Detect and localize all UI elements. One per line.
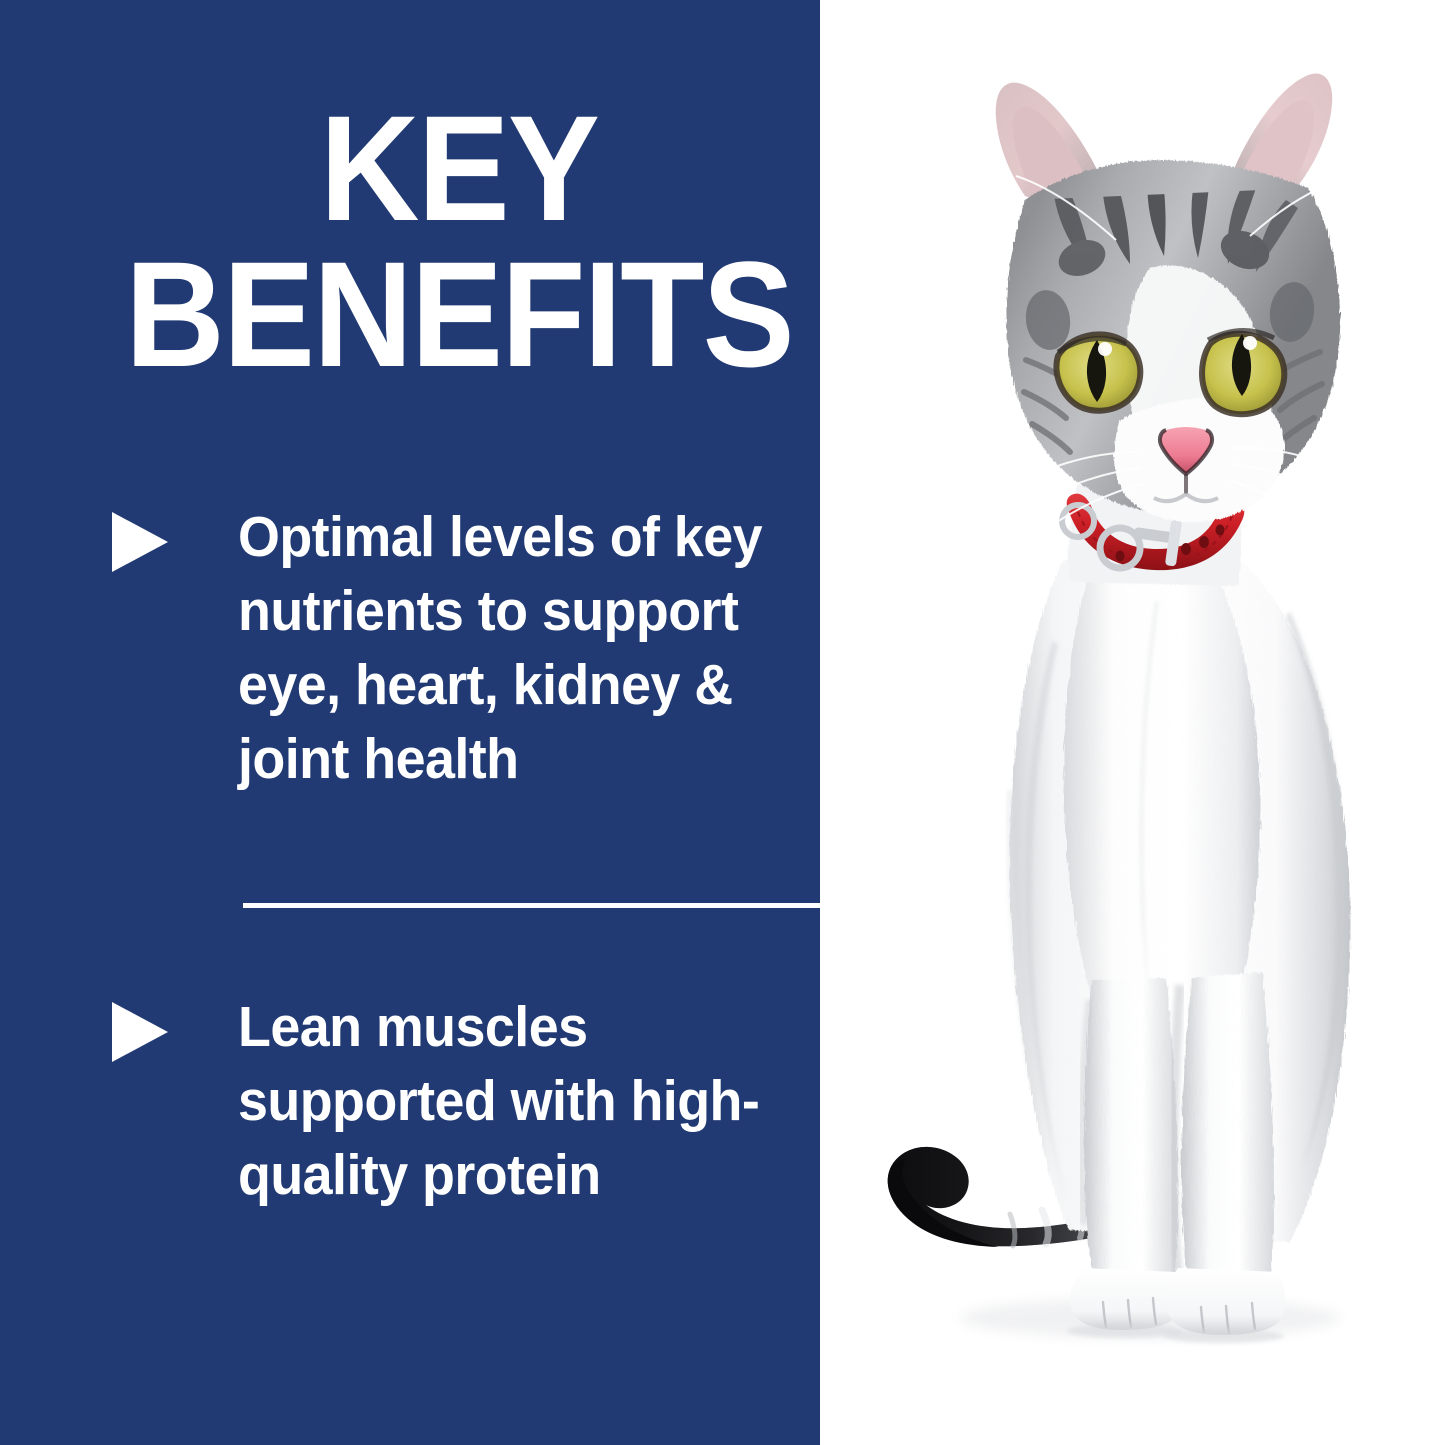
key-benefits-banner: KEY BENEFITS Optimal levels of key nutri…: [0, 0, 1445, 1445]
benefit-item-label: Lean muscles supported with high-quality…: [238, 990, 837, 1212]
page-title: KEY BENEFITS: [37, 96, 882, 387]
collar-buckle: [1062, 505, 1182, 568]
cat-eyes: [1056, 330, 1284, 414]
page-title-line-1: KEY: [37, 96, 882, 242]
cat-nose: [1160, 427, 1212, 494]
section-divider: [243, 903, 840, 908]
benefit-item-label: Optimal levels of key nutrients to suppo…: [238, 500, 837, 796]
cat-chest: [1064, 575, 1261, 1024]
cat-ears: [996, 74, 1332, 232]
page-title-line-2: BENEFITS: [37, 242, 882, 388]
cat-paws: [1067, 1268, 1285, 1343]
triangle-right-icon: [112, 512, 168, 572]
triangle-right-icon: [112, 1002, 168, 1062]
benefit-item: Lean muscles supported with high-quality…: [112, 990, 872, 1212]
cat-tail: [888, 1147, 1150, 1247]
cat-collar: [1062, 494, 1244, 571]
cat-front-legs: [1084, 972, 1274, 1298]
cat-body: [1010, 552, 1351, 1242]
benefit-item: Optimal levels of key nutrients to suppo…: [112, 500, 872, 796]
cat-head: [996, 74, 1368, 546]
